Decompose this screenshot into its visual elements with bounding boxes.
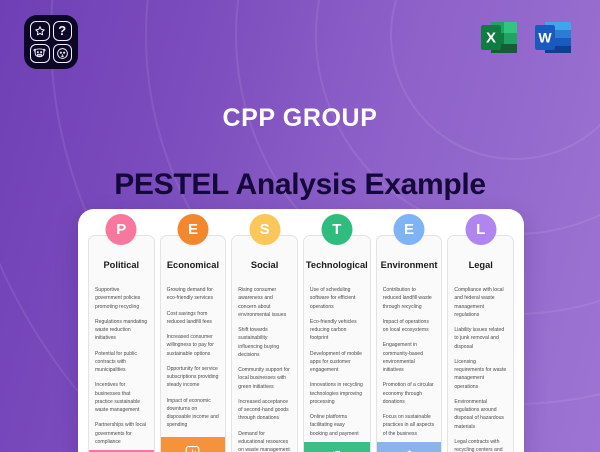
column-title: Social <box>232 260 297 270</box>
column-item: Increased acceptance of second-hand good… <box>238 398 291 423</box>
column-letter-badge: L <box>465 214 496 245</box>
bar-chart-icon <box>161 437 226 452</box>
column-letter-badge: E <box>394 214 425 245</box>
page-title: PESTEL Analysis Example <box>0 168 600 202</box>
column-item: Legal contracts with recycling centers a… <box>454 438 507 452</box>
pestel-columns: PPoliticalSupportive government policies… <box>88 235 514 452</box>
column-item: Licensing requirements for waste managem… <box>454 358 507 391</box>
column-item: Use of scheduling software for efficient… <box>310 286 364 311</box>
column-letter-badge: S <box>249 214 280 245</box>
column-item: Eco-friendly vehicles reducing carbon fo… <box>310 318 364 343</box>
pestel-column-political[interactable]: PPoliticalSupportive government policies… <box>88 235 155 452</box>
column-item-list: Rising consumer awareness and concern ab… <box>232 270 297 452</box>
column-item-list: Use of scheduling software for efficient… <box>304 270 370 442</box>
column-item: Environmental regulations around disposa… <box>454 398 507 431</box>
column-letter-badge: P <box>106 214 137 245</box>
column-title: Political <box>89 260 154 270</box>
star-icon <box>30 21 50 41</box>
column-item: Growing demand for eco-friendly services <box>167 286 220 303</box>
column-item: Partnerships with local governments for … <box>95 421 148 446</box>
brand-title: CPP GROUP <box>0 104 600 133</box>
svg-text:W: W <box>538 30 552 46</box>
column-title: Economical <box>161 260 226 270</box>
column-item-list: Compliance with local and federal waste … <box>448 270 513 452</box>
column-item: Opportunity for service subscriptions pr… <box>167 365 220 390</box>
pestel-column-environment[interactable]: EEnvironmentContribution to reduced land… <box>376 235 443 452</box>
column-item: Development of mobile apps for customer … <box>310 350 364 375</box>
dog-face-icon <box>53 44 73 64</box>
column-item: Liability issues related to junk removal… <box>454 326 507 351</box>
column-letter-badge: T <box>321 214 352 245</box>
column-item: Cost savings from reduced landfill fees <box>167 310 220 327</box>
gear-icon <box>304 442 370 452</box>
column-item: Incentives for businesses that practice … <box>95 381 148 414</box>
column-item: Demand for educational resources on wast… <box>238 430 291 452</box>
excel-icon[interactable]: X <box>478 14 524 60</box>
word-icon[interactable]: W <box>532 14 578 60</box>
column-item: Potential for public contracts with muni… <box>95 350 148 375</box>
column-title: Environment <box>377 260 442 270</box>
cpp-group-logo[interactable]: ? <box>24 15 78 69</box>
column-item: Compliance with local and federal waste … <box>454 286 507 319</box>
column-item-list: Growing demand for eco-friendly services… <box>161 270 226 437</box>
column-letter-badge: E <box>177 214 208 245</box>
column-item-list: Contribution to reduced landfill waste t… <box>377 270 442 442</box>
svg-text:X: X <box>486 30 496 47</box>
column-item: Regulations mandating waste reduction in… <box>95 318 148 343</box>
column-item: Promotion of a circular economy through … <box>383 381 436 406</box>
leaf-icon <box>377 442 442 452</box>
column-item: Engagement in community-based environmen… <box>383 341 436 374</box>
pestel-column-technological[interactable]: TTechnologicalUse of scheduling software… <box>303 235 371 452</box>
column-item: Increased consumer willingness to pay fo… <box>167 333 220 358</box>
column-item: Focus on sustainable practices in all as… <box>383 413 436 438</box>
column-item: Community support for local businesses w… <box>238 366 291 391</box>
column-item: Impact of economic downturns on disposab… <box>167 397 220 430</box>
column-item: Rising consumer awareness and concern ab… <box>238 286 291 319</box>
column-title: Technological <box>304 260 370 270</box>
pestel-card: PPoliticalSupportive government policies… <box>78 209 524 452</box>
column-item-list: Supportive government policies promoting… <box>89 270 154 450</box>
pestel-column-economical[interactable]: EEconomicalGrowing demand for eco-friend… <box>160 235 227 452</box>
column-item: Online platforms facilitating easy booki… <box>310 413 364 438</box>
column-item: Contribution to reduced landfill waste t… <box>383 286 436 311</box>
cow-face-icon <box>30 44 50 64</box>
question-mark-icon: ? <box>53 21 73 41</box>
column-item: Innovations in recycling technologies im… <box>310 381 364 406</box>
slide-canvas: ? <box>0 0 600 452</box>
pestel-column-social[interactable]: SSocialRising consumer awareness and con… <box>231 235 298 452</box>
pestel-column-legal[interactable]: LLegalCompliance with local and federal … <box>447 235 514 452</box>
column-item: Supportive government policies promoting… <box>95 286 148 311</box>
column-item: Impact of operations on local ecosystems <box>383 318 436 335</box>
column-title: Legal <box>448 260 513 270</box>
column-item: Shift towards sustainability influencing… <box>238 326 291 359</box>
